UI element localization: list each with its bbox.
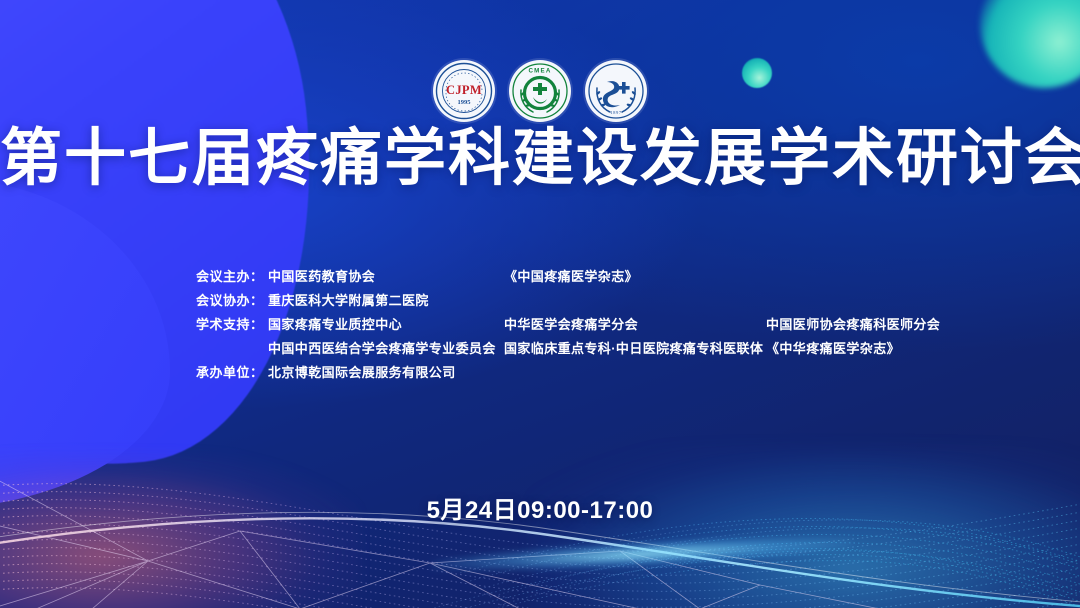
red-glow — [0, 453, 360, 608]
info-row-col1: 重庆医科大学附属第二医院 — [268, 294, 504, 307]
info-row-col1: 国家疼痛专业质控中心 — [268, 318, 504, 331]
info-row: 中国中西医结合学会疼痛学专业委员会 国家临床重点专科·中日医院疼痛专科医联体 《… — [196, 342, 956, 355]
svg-text:·1897·: ·1897· — [608, 110, 624, 115]
info-row-label: 会议主办： — [196, 270, 268, 283]
light-streak — [432, 531, 853, 577]
info-row-col2: 《中国疼痛医学杂志》 — [504, 270, 766, 283]
info-row: 学术支持： 国家疼痛专业质控中心 中华医学会疼痛学分会 中国医师协会疼痛科医师分… — [196, 318, 956, 331]
info-row-col3: 《中华疼痛医学杂志》 — [766, 342, 956, 355]
info-row-label: 会议协办： — [196, 294, 268, 307]
info-row-col1: 中国中西医结合学会疼痛学专业委员会 — [268, 342, 504, 355]
cyan-glow — [530, 446, 1080, 608]
organization-logos: CJPM 1995 CMEA — [0, 60, 1080, 122]
svg-text:CJPM: CJPM — [446, 83, 482, 97]
info-row-label: 承办单位： — [196, 366, 268, 379]
info-row: 承办单位： 北京博乾国际会展服务有限公司 — [196, 366, 956, 379]
conference-poster: CJPM 1995 CMEA — [0, 0, 1080, 608]
cjpm-logo: CJPM 1995 — [433, 60, 495, 122]
info-row-col1: 北京博乾国际会展服务有限公司 — [268, 366, 504, 379]
organizers-info: 会议主办： 中国医药教育协会 《中国疼痛医学杂志》 会议协办： 重庆医科大学附属… — [196, 270, 956, 390]
event-datetime: 5月24日09:00-17:00 — [0, 490, 1080, 525]
blue-blob-shape-2 — [0, 180, 170, 510]
info-row-col2: 国家临床重点专科·中日医院疼痛专科医联体 — [504, 342, 766, 355]
info-row: 会议协办： 重庆医科大学附属第二医院 — [196, 294, 956, 307]
svg-text:1995: 1995 — [458, 99, 472, 106]
svg-text:CMEA: CMEA — [528, 68, 551, 75]
page-title: 第十七届疼痛学科建设发展学术研讨会 — [0, 126, 1080, 191]
cmea-logo: CMEA — [509, 60, 571, 122]
info-row-col1: 中国医药教育协会 — [268, 270, 504, 283]
info-row-col2: 中华医学会疼痛学分会 — [504, 318, 766, 331]
info-row: 会议主办： 中国医药教育协会 《中国疼痛医学杂志》 — [196, 270, 956, 283]
medical-association-logo: ·1897· — [585, 60, 647, 122]
info-row-col3: 中国医师协会疼痛科医师分会 — [766, 318, 956, 331]
info-row-label: 学术支持： — [196, 318, 268, 331]
